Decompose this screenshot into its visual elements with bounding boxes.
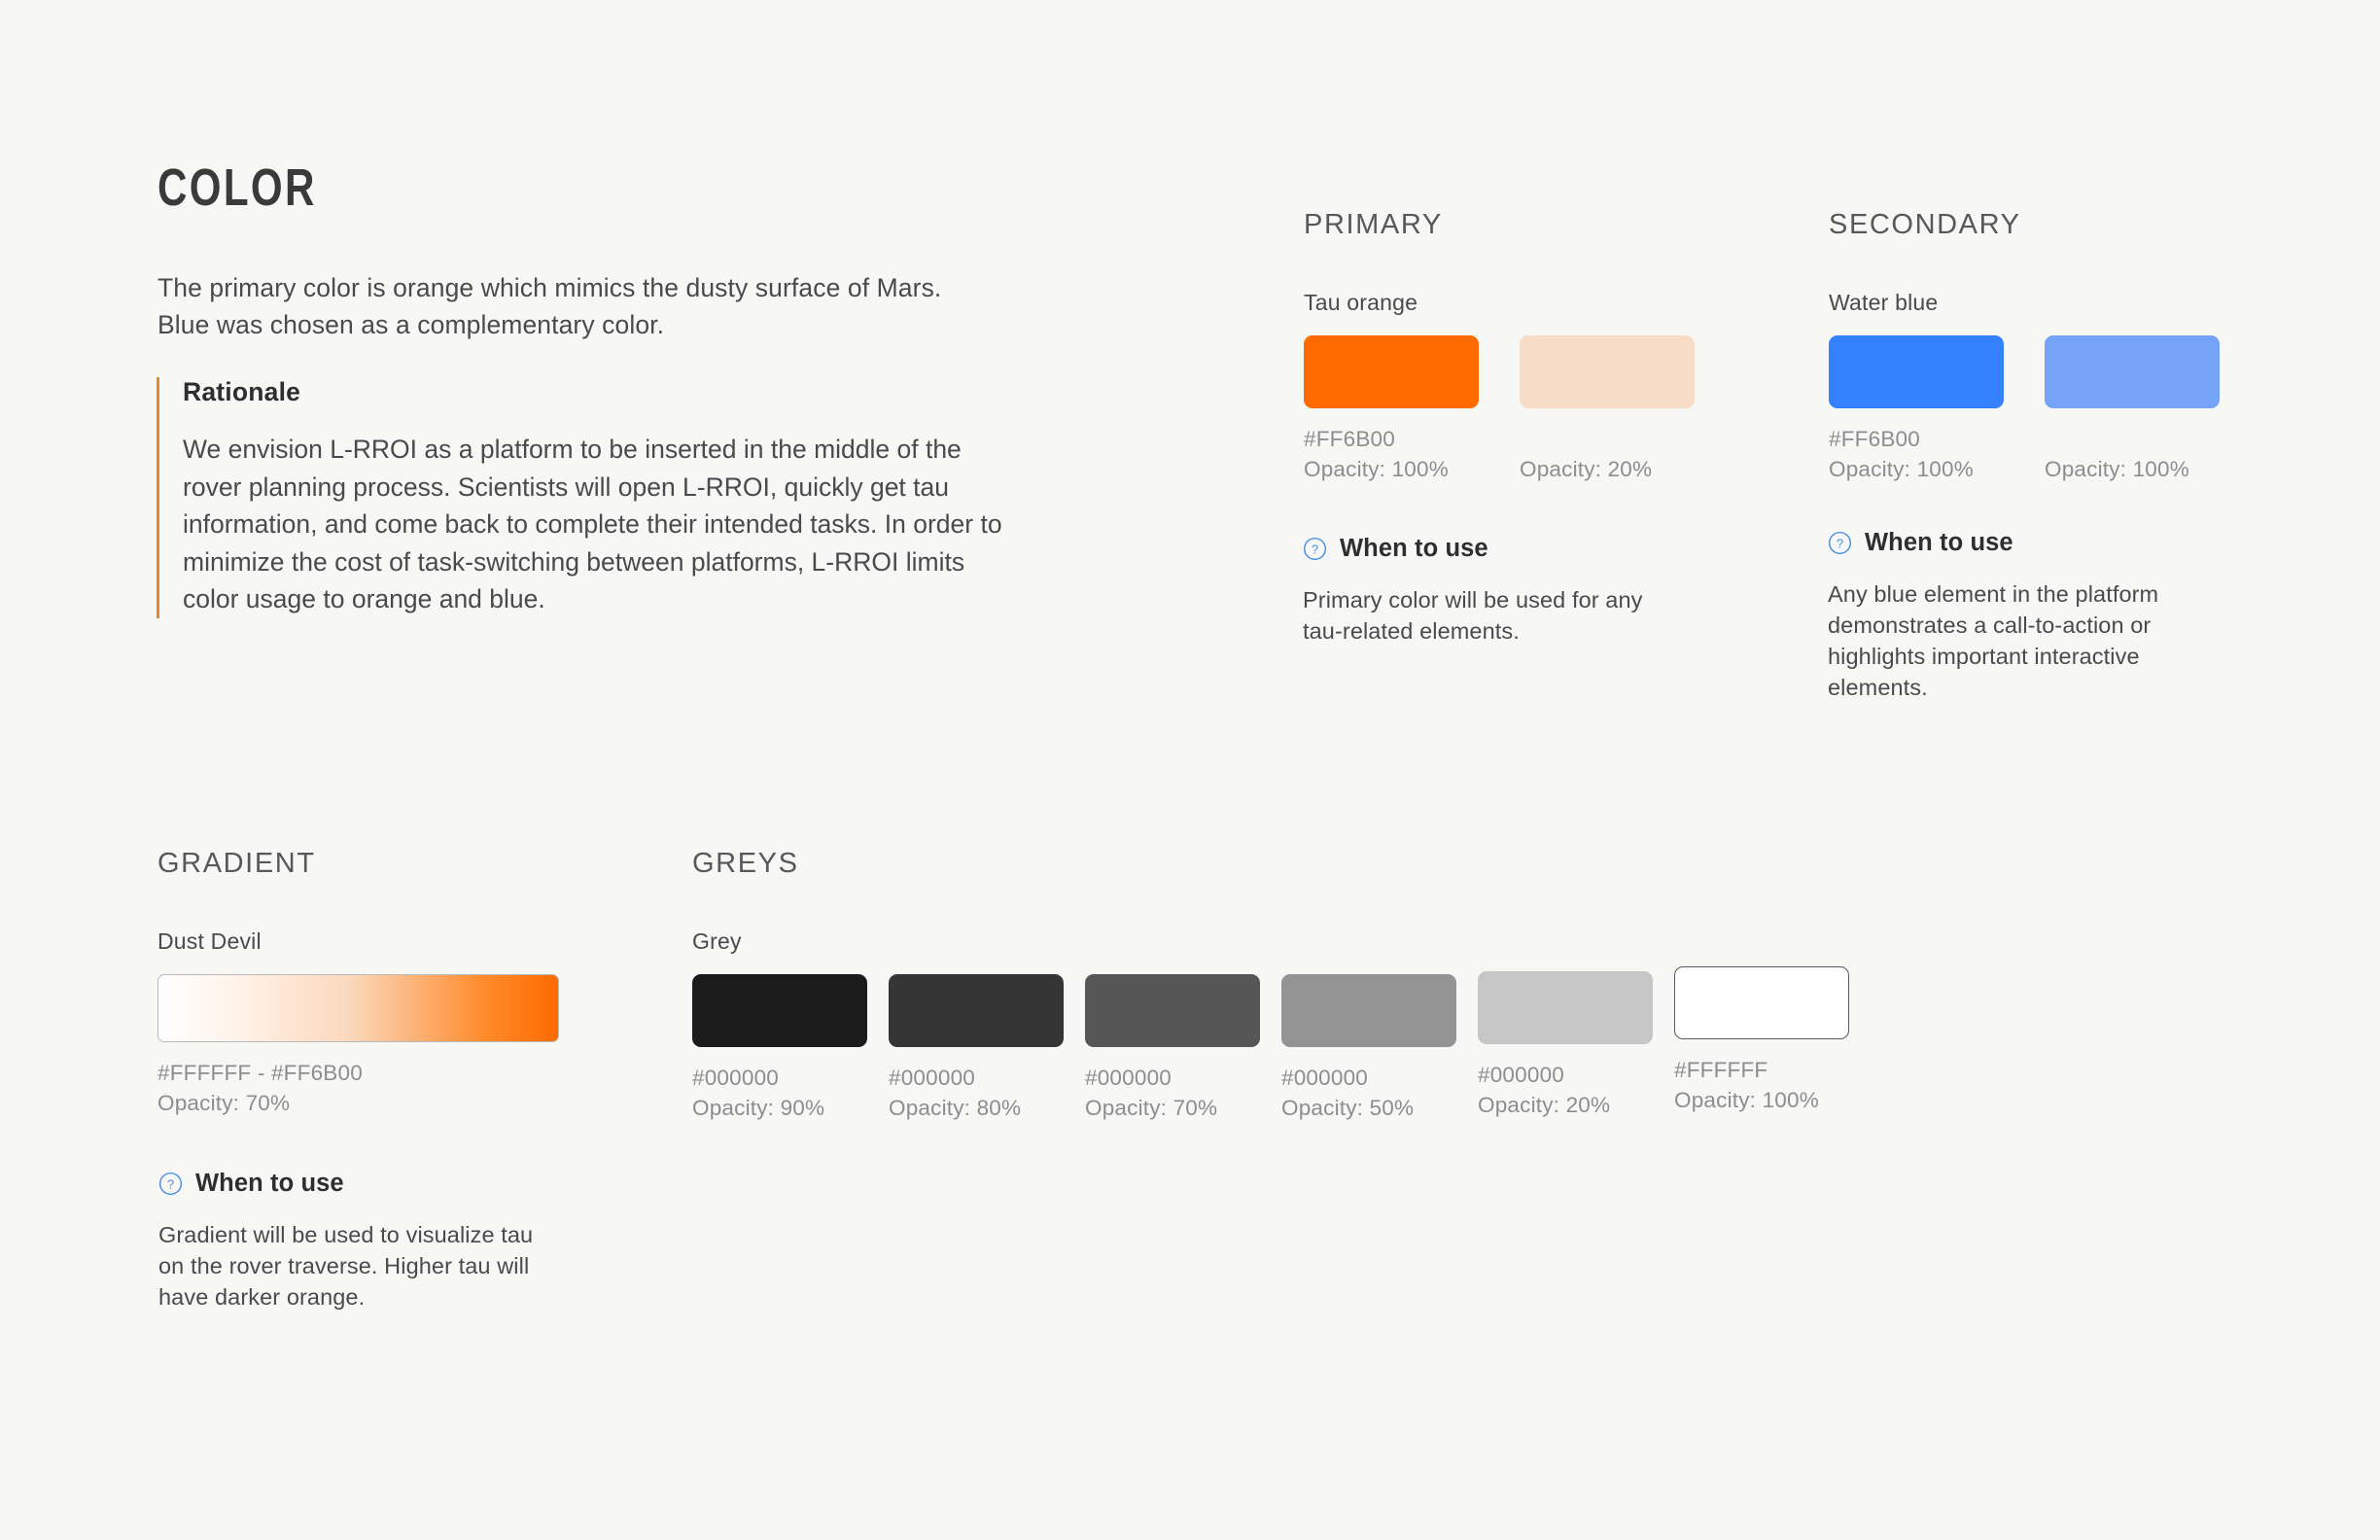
question-circle-icon: ? — [1303, 537, 1327, 561]
swatch-row: #FF6B00 Opacity: 100% Opacity: 100% — [1829, 335, 2220, 484]
swatch-cell[interactable]: #FF6B00 Opacity: 100% — [1304, 335, 1479, 484]
question-circle-icon: ? — [158, 1172, 183, 1196]
swatch-cell[interactable]: Opacity: 20% — [1520, 335, 1695, 484]
color-chip-tau-orange-100[interactable] — [1304, 335, 1479, 408]
swatch-group-label: Dust Devil — [157, 928, 559, 955]
gradient-chip-dust-devil[interactable] — [157, 974, 559, 1042]
svg-text:?: ? — [167, 1176, 174, 1191]
swatch-cell[interactable]: #000000 Opacity: 20% — [1478, 971, 1653, 1123]
swatch-cell[interactable]: #000000 Opacity: 50% — [1281, 974, 1456, 1123]
question-circle-icon: ? — [1828, 531, 1852, 555]
color-chip-water-blue-100[interactable] — [1829, 335, 2004, 408]
swatch-row: #000000 Opacity: 90% #000000 Opacity: 80… — [692, 974, 1849, 1123]
section-heading-greys: GREYS — [692, 848, 799, 880]
chip-meta: #000000 Opacity: 90% — [692, 1063, 867, 1123]
color-chip-tau-orange-20[interactable] — [1520, 335, 1695, 408]
chip-meta: #FF6B00 Opacity: 100% — [1304, 424, 1479, 484]
color-chip-white-100[interactable] — [1674, 966, 1849, 1039]
chip-meta: Opacity: 100% — [2045, 424, 2220, 484]
chip-meta: #FF6B00 Opacity: 100% — [1829, 424, 2004, 484]
chip-meta: #000000 Opacity: 20% — [1478, 1060, 1653, 1120]
chip-opacity-label: Opacity: 90% — [692, 1093, 867, 1123]
svg-text:?: ? — [1312, 542, 1318, 556]
swatch-group-secondary: Water blue #FF6B00 Opacity: 100% Opacity… — [1829, 290, 2220, 484]
chip-meta: #000000 Opacity: 80% — [889, 1063, 1064, 1123]
swatch-cell[interactable]: #FFFFFF - #FF6B00 Opacity: 70% — [157, 974, 559, 1118]
section-heading-gradient: GRADIENT — [157, 848, 316, 880]
chip-opacity-label: Opacity: 70% — [1085, 1093, 1260, 1123]
chip-hex-label: #000000 — [1281, 1063, 1456, 1093]
color-chip-grey-90[interactable] — [692, 974, 867, 1047]
color-chip-grey-70[interactable] — [1085, 974, 1260, 1047]
when-to-use-header: ? When to use — [1303, 535, 1731, 563]
chip-hex-label: #FF6B00 — [1304, 424, 1479, 454]
swatch-group-label: Grey — [692, 928, 1849, 955]
swatch-group-greys: Grey #000000 Opacity: 90% #000000 Opacit… — [692, 928, 1849, 1123]
color-chip-water-blue-light[interactable] — [2045, 335, 2220, 408]
chip-meta: #000000 Opacity: 50% — [1281, 1063, 1456, 1123]
swatch-cell[interactable]: #000000 Opacity: 90% — [692, 974, 867, 1123]
chip-hex-label: #FF6B00 — [1829, 424, 2004, 454]
swatch-group-primary: Tau orange #FF6B00 Opacity: 100% Opacity… — [1304, 290, 1695, 484]
swatch-group-label: Tau orange — [1304, 290, 1695, 316]
swatch-group-label: Water blue — [1829, 290, 2220, 316]
when-to-use-body: Gradient will be used to visualize tau o… — [158, 1219, 557, 1312]
when-to-use-body: Primary color will be used for any tau-r… — [1303, 584, 1687, 647]
chip-meta: #FFFFFF Opacity: 100% — [1674, 1055, 1849, 1115]
chip-hex-label: #000000 — [1085, 1063, 1260, 1093]
color-style-guide-page: COLOR The primary color is orange which … — [0, 0, 2380, 1540]
when-to-use-title: When to use — [195, 1170, 344, 1198]
chip-opacity-label: Opacity: 100% — [1829, 454, 2004, 484]
chip-hex-label: #000000 — [692, 1063, 867, 1093]
when-to-use-body: Any blue element in the platform demonst… — [1828, 578, 2192, 703]
section-heading-primary: PRIMARY — [1304, 209, 1443, 241]
rationale-title: Rationale — [183, 377, 1032, 407]
swatch-row: #FF6B00 Opacity: 100% Opacity: 20% — [1304, 335, 1695, 484]
chip-meta: Opacity: 20% — [1520, 424, 1695, 484]
chip-opacity-label: Opacity: 100% — [1674, 1085, 1849, 1115]
chip-opacity-label: Opacity: 20% — [1520, 454, 1695, 484]
when-to-use-title: When to use — [1865, 529, 2013, 557]
chip-hex-label: #FFFFFF — [1674, 1055, 1849, 1085]
chip-hex-label: #000000 — [889, 1063, 1064, 1093]
chip-opacity-label: Opacity: 20% — [1478, 1090, 1653, 1120]
rationale-block: Rationale We envision L-RROI as a platfo… — [157, 377, 1032, 618]
page-title: COLOR — [157, 157, 317, 218]
rationale-body: We envision L-RROI as a platform to be i… — [183, 431, 1021, 618]
swatch-group-gradient: Dust Devil #FFFFFF - #FF6B00 Opacity: 70… — [157, 928, 559, 1118]
svg-text:?: ? — [1837, 536, 1843, 550]
when-to-use-header: ? When to use — [1828, 529, 2236, 557]
chip-meta: #FFFFFF - #FF6B00 Opacity: 70% — [157, 1058, 559, 1118]
color-chip-grey-50[interactable] — [1281, 974, 1456, 1047]
swatch-cell[interactable]: Opacity: 100% — [2045, 335, 2220, 484]
when-to-use-header: ? When to use — [158, 1170, 567, 1198]
chip-opacity-label: Opacity: 70% — [157, 1088, 559, 1118]
swatch-cell[interactable]: #000000 Opacity: 70% — [1085, 974, 1260, 1123]
chip-opacity-label: Opacity: 80% — [889, 1093, 1064, 1123]
when-to-use-title: When to use — [1340, 535, 1488, 563]
chip-hex-label: #000000 — [1478, 1060, 1653, 1090]
when-to-use-primary: ? When to use Primary color will be used… — [1303, 535, 1731, 647]
color-chip-grey-20[interactable] — [1478, 971, 1653, 1044]
swatch-cell[interactable]: #FF6B00 Opacity: 100% — [1829, 335, 2004, 484]
chip-meta: #000000 Opacity: 70% — [1085, 1063, 1260, 1123]
chip-hex-label: #FFFFFF - #FF6B00 — [157, 1058, 559, 1088]
when-to-use-secondary: ? When to use Any blue element in the pl… — [1828, 529, 2236, 703]
section-heading-secondary: SECONDARY — [1829, 209, 2021, 241]
swatch-cell[interactable]: #FFFFFF Opacity: 100% — [1674, 966, 1849, 1123]
chip-opacity-label: Opacity: 100% — [2045, 454, 2220, 484]
intro-paragraph: The primary color is orange which mimics… — [157, 269, 964, 343]
color-chip-grey-80[interactable] — [889, 974, 1064, 1047]
chip-opacity-label: Opacity: 50% — [1281, 1093, 1456, 1123]
when-to-use-gradient: ? When to use Gradient will be used to v… — [158, 1170, 567, 1312]
swatch-cell[interactable]: #000000 Opacity: 80% — [889, 974, 1064, 1123]
chip-opacity-label: Opacity: 100% — [1304, 454, 1479, 484]
